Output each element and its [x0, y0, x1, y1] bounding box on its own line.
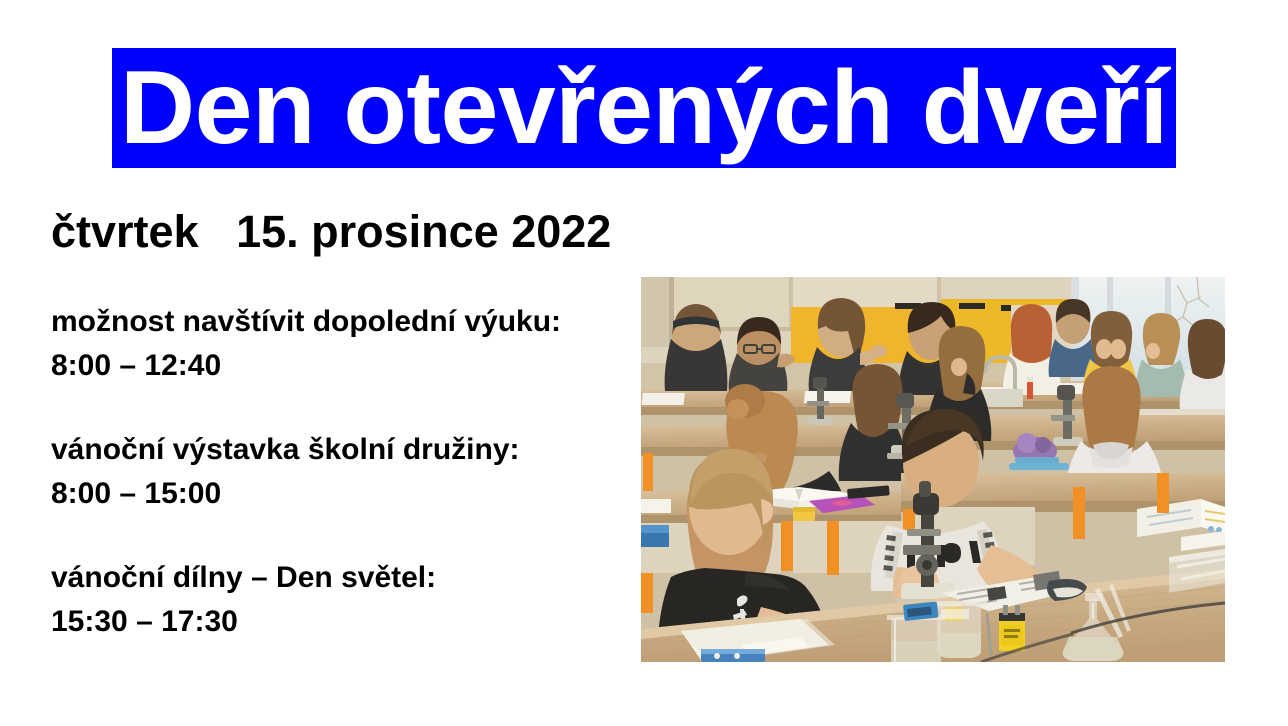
- schedule-item-1: možnost navštívit dopolední výuku: 8:00 …: [51, 300, 651, 388]
- schedule-item-label: možnost navštívit dopolední výuku:: [51, 300, 651, 344]
- classroom-photo: [641, 277, 1225, 662]
- schedule-item-2: vánoční výstavka školní družiny: 8:00 – …: [51, 428, 651, 516]
- schedule-item-time: 8:00 – 12:40: [51, 344, 651, 388]
- schedule-list: možnost navštívit dopolední výuku: 8:00 …: [51, 300, 651, 644]
- classroom-photo-illustration: [641, 277, 1225, 662]
- schedule-item-time: 15:30 – 17:30: [51, 600, 651, 644]
- schedule-item-3: vánoční dílny – Den světel: 15:30 – 17:3…: [51, 556, 651, 644]
- schedule-item-label: vánoční dílny – Den světel:: [51, 556, 651, 600]
- title-banner: Den otevřených dveří: [112, 48, 1176, 168]
- date-line: čtvrtek 15. prosince 2022: [51, 207, 611, 257]
- schedule-item-label: vánoční výstavka školní družiny:: [51, 428, 651, 472]
- page-title: Den otevřených dveří: [120, 56, 1168, 160]
- schedule-item-time: 8:00 – 15:00: [51, 472, 651, 516]
